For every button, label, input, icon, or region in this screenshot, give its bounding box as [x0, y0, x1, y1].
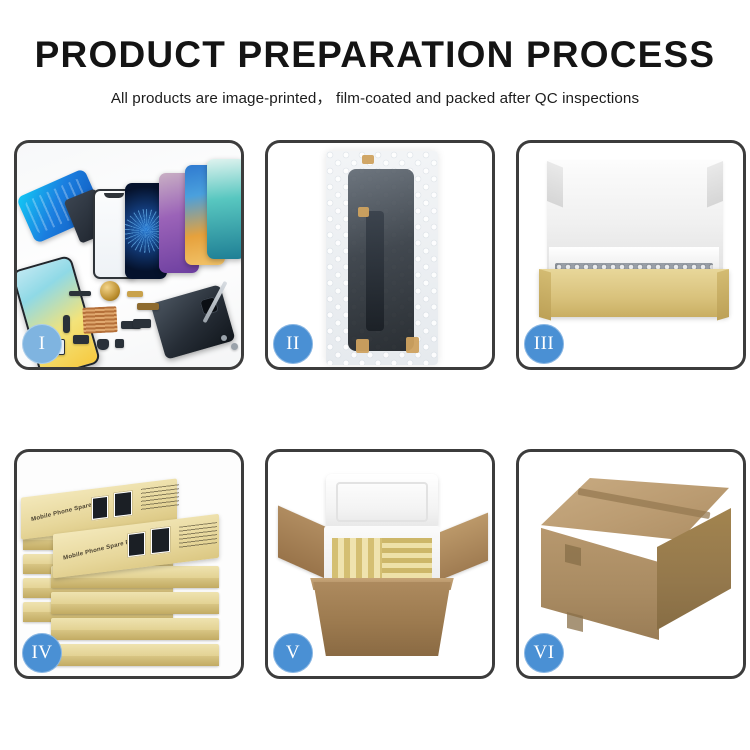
tape-strip: [358, 207, 369, 217]
box-artwork-screen: [91, 495, 109, 521]
component-chip: [127, 291, 143, 297]
step-badge-3: III: [524, 324, 564, 364]
process-step-panel-5[interactable]: V: [265, 449, 495, 679]
component-chip: [73, 335, 89, 344]
box-side: [51, 656, 219, 666]
bubble-wrap-bag-graphic: [326, 151, 438, 365]
kraft-tray-lip-left: [539, 269, 551, 320]
tape-strip: [356, 339, 369, 353]
component-chip: [115, 339, 124, 348]
foam-lid-graphic: [326, 474, 438, 530]
process-step-grid: I II III: [14, 140, 736, 679]
process-step-panel-1[interactable]: I: [14, 140, 244, 370]
box-lid-flap-left: [547, 161, 563, 207]
tape-strip: [362, 155, 374, 164]
process-step-panel-3[interactable]: III: [516, 140, 746, 370]
taptic-engine-graphic: [100, 281, 120, 301]
component-screw: [221, 335, 227, 341]
carton-flap-right: [432, 513, 488, 584]
carton-tape-patch: [565, 544, 581, 566]
process-step-panel-2[interactable]: II: [265, 140, 495, 370]
box-side: [51, 630, 219, 640]
page-title: PRODUCT PREPARATION PROCESS: [0, 36, 750, 75]
wrapped-flex-cable-graphic: [366, 211, 384, 331]
step-badge-5: V: [273, 633, 313, 673]
phone-teal-graphic: [207, 159, 241, 259]
tape-strip: [406, 337, 419, 353]
page-header: PRODUCT PREPARATION PROCESS All products…: [0, 0, 750, 108]
process-step-panel-6[interactable]: VI: [516, 449, 746, 679]
page-subtitle: All products are image-printed， film-coa…: [0, 86, 750, 108]
step-badge-1: I: [22, 324, 62, 364]
box-spec-lines: [179, 522, 217, 549]
carton-front-face: [541, 522, 659, 640]
box-spec-lines: [141, 484, 179, 511]
process-step-panel-4[interactable]: Mobile Phone Spare Parts Mobile Phone Sp…: [14, 449, 244, 679]
box-artwork-screen: [150, 526, 171, 556]
packed-kraft-boxes-graphic: [332, 538, 432, 580]
copper-board-graphic: [82, 306, 117, 334]
component-chip: [137, 303, 159, 310]
kraft-tray-graphic: [539, 269, 729, 317]
box-side: [51, 604, 219, 614]
kraft-box-row: [382, 538, 432, 580]
kraft-box: [51, 618, 219, 640]
box-lid-flap-right: [707, 161, 723, 207]
carton-tape-patch: [567, 612, 583, 632]
component-chip: [97, 339, 109, 350]
component-chip: [133, 319, 151, 328]
component-screw: [231, 343, 238, 350]
carton-body-graphic: [304, 582, 460, 656]
step-badge-4: IV: [22, 633, 62, 673]
box-artwork-screen: [113, 490, 133, 518]
kraft-box: [51, 592, 219, 614]
kraft-tray-lip-right: [717, 269, 729, 320]
phone-back-panel-graphic: [150, 284, 235, 360]
step-badge-2: II: [273, 324, 313, 364]
box-artwork-screen: [127, 531, 146, 558]
component-chip: [63, 315, 70, 333]
step-badge-6: VI: [524, 633, 564, 673]
component-chip: [69, 291, 91, 296]
box-side: [51, 578, 219, 588]
kraft-box: [51, 644, 219, 666]
